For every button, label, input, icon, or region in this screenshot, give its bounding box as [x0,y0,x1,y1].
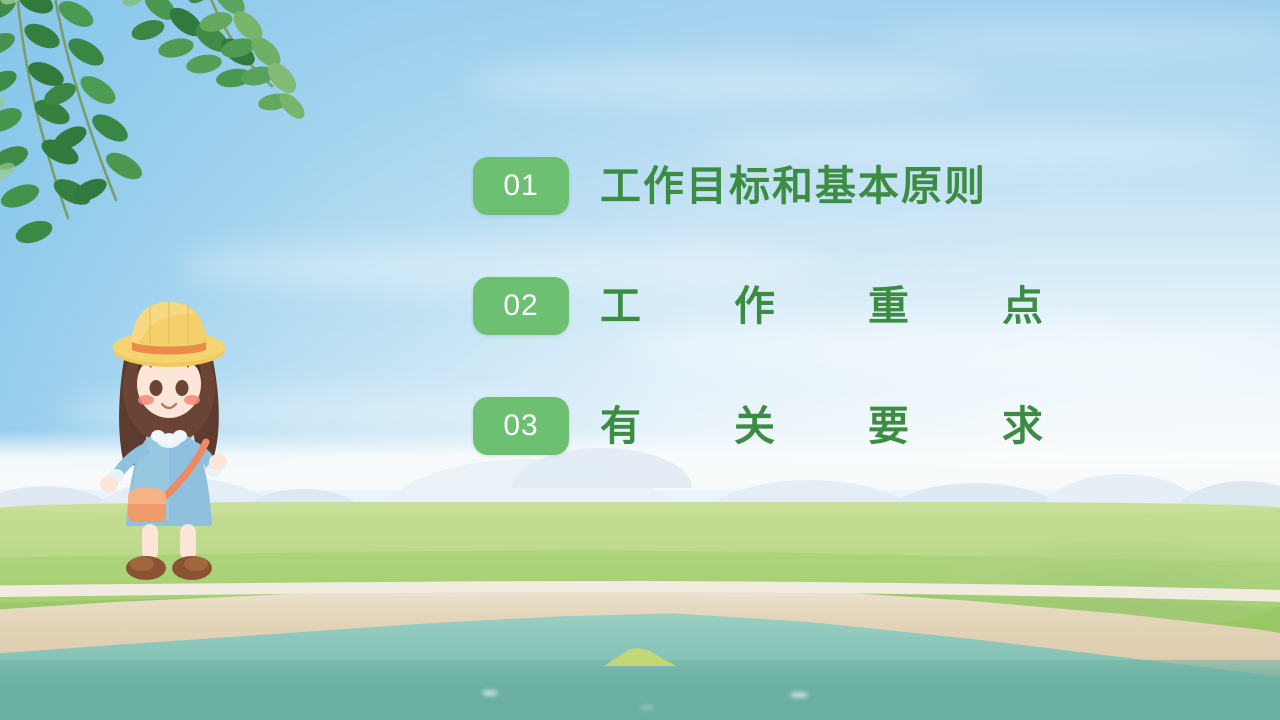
agenda-title-02: 工 作 重 点 [600,270,1043,342]
blush-right [184,395,200,405]
agenda-title-03-char-3: 要 [868,390,909,462]
shoe-left-top [130,557,154,571]
agenda-item-01[interactable]: 01 工作目标和基本原则 [473,150,1053,270]
agenda-number-badge-03: 03 [473,397,569,455]
blush-left [138,395,154,405]
collar-petal [173,430,187,442]
leg-right [180,524,196,560]
cartoon-girl-illustration [84,292,254,592]
eye-right [176,380,189,396]
bag-flap [128,488,166,504]
water-ripple [790,692,808,698]
hanging-leaf-branches [0,0,310,256]
foliage-svg [0,0,310,266]
shoe-right-top [184,557,208,571]
agenda-title-02-char-3: 重 [868,270,909,342]
slide-canvas: 01 工作目标和基本原则 02 工 作 重 点 03 有 关 要 求 [0,0,1280,720]
agenda-title-02-char-2: 作 [734,270,775,342]
agenda-title-02-char-4: 点 [1002,270,1043,342]
agenda-item-03[interactable]: 03 有 关 要 求 [473,390,1053,510]
leg-left [142,524,158,560]
agenda-number-badge-02: 02 [473,277,569,335]
agenda-title-02-char-1: 工 [600,270,641,342]
agenda-list: 01 工作目标和基本原则 02 工 作 重 点 03 有 关 要 求 [473,150,1053,510]
eye-left [150,380,163,396]
hand-right [209,454,227,470]
agenda-title-03-char-4: 求 [1002,390,1043,462]
agenda-number-02: 02 [503,289,538,323]
pond-water-foreground [0,660,1280,720]
hand-left [100,476,118,492]
agenda-number-badge-01: 01 [473,157,569,215]
agenda-item-02[interactable]: 02 工 作 重 点 [473,270,1053,390]
water-ripple [482,690,498,696]
agenda-title-03-char-2: 关 [734,390,775,462]
agenda-title-01: 工作目标和基本原则 [600,150,1043,222]
agenda-title-03-char-1: 有 [600,390,641,462]
agenda-number-03: 03 [503,409,538,443]
agenda-title-03: 有 关 要 求 [600,390,1043,462]
water-ripple [640,705,654,710]
girl-svg [84,292,254,592]
agenda-number-01: 01 [503,169,538,203]
